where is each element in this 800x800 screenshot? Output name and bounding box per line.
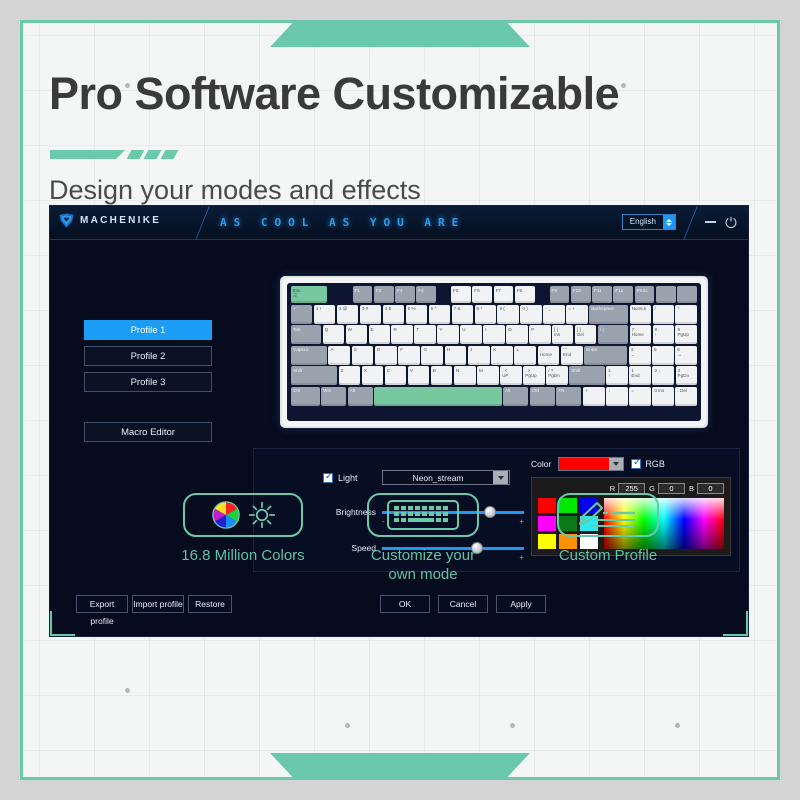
keyboard-key[interactable]: \ |: [598, 325, 628, 344]
grid-dot: [345, 723, 350, 728]
profile-button-2[interactable]: Profile 2: [84, 346, 212, 366]
brightness-plus: +: [519, 517, 524, 526]
keyboard-key[interactable]: Alt: [348, 387, 373, 406]
keyboard-key[interactable]: - _: [543, 305, 564, 324]
keyboard-icon: [386, 498, 460, 532]
poster-frame: Pro Software Customizable Design your mo…: [20, 20, 780, 780]
language-value: English: [623, 215, 663, 229]
keyboard-row: ShiftZXCVBNM, < UP. > PgUp/ ? PgDnShift1…: [291, 366, 697, 385]
keyboard-key[interactable]: 3 PgDn: [676, 366, 698, 385]
keyboard-key[interactable]: F5: [451, 286, 471, 303]
keyboard-key[interactable]: H: [445, 346, 467, 365]
keyboard-key[interactable]: F4: [416, 286, 436, 303]
feature-caption: Customize your own mode: [343, 547, 503, 585]
keyboard-key[interactable]: V: [408, 366, 430, 385]
keyboard-key[interactable]: 6 →: [675, 346, 697, 365]
checkbox-checked-icon[interactable]: [323, 473, 333, 483]
keyboard-key[interactable]: Shift: [569, 366, 605, 385]
minimize-icon[interactable]: [705, 221, 716, 223]
keyboard-row: CapsLkASDFGHJKL; : Home' " EndEnter4 ←56…: [291, 346, 697, 365]
checkbox-checked-icon[interactable]: [631, 459, 641, 469]
brand-logo: MACHENIKE: [58, 212, 161, 229]
brightness-sun-icon: [248, 501, 276, 529]
spinner-updown-icon[interactable]: [663, 215, 675, 229]
keyboard-key[interactable]: M: [477, 366, 499, 385]
light-label: Light: [338, 473, 358, 483]
titlebar-diagonal: [683, 206, 698, 240]
keyboard-key[interactable]: P: [529, 325, 550, 344]
keyboard-key[interactable]: ] } Del: [575, 325, 596, 344]
keyboard-key[interactable]: B: [431, 366, 453, 385]
pen-profile-icon: [575, 499, 641, 531]
window-titlebar: MACHENIKE AS COOL AS YOU ARE English: [50, 206, 748, 240]
accent-slash: [144, 150, 162, 159]
chevron-down-icon[interactable]: [609, 458, 623, 470]
export-profile-button[interactable]: Export profile: [76, 595, 128, 613]
keyboard-row: CtrlWinAltAltCtrlFN+↓=0 Ins. Del: [291, 387, 697, 406]
keyboard-key[interactable]: F7: [494, 286, 514, 303]
keyboard-key[interactable]: Z: [339, 366, 361, 385]
chevron-down-icon[interactable]: [493, 471, 508, 484]
profile-button-1[interactable]: Profile 1: [84, 320, 212, 340]
ok-button[interactable]: OK: [380, 595, 430, 613]
bottom-trapezoid-accent: [270, 753, 530, 778]
keyboard-key[interactable]: 9 PgUp: [675, 325, 696, 344]
keyboard-key[interactable]: W: [346, 325, 367, 344]
keyboard-key[interactable]: S: [352, 346, 374, 365]
keyboard-key[interactable]: F11: [592, 286, 612, 303]
grid-dot: [621, 83, 626, 88]
keyboard-key[interactable]: N: [454, 366, 476, 385]
keyboard-key[interactable]: Q: [323, 325, 344, 344]
keyboard-key[interactable]: Ctrl: [291, 387, 320, 406]
feature-colors: 16.8 Million Colors: [163, 493, 323, 566]
restore-button[interactable]: Restore: [188, 595, 232, 613]
keyboard-key[interactable]: PrtSc: [635, 286, 655, 303]
keyboard-key[interactable]: ; : Home: [538, 346, 560, 365]
keyboard-key[interactable]: Tab: [291, 325, 321, 344]
color-select[interactable]: [558, 457, 624, 471]
accent-divider: [50, 150, 176, 159]
keyboard-row: ~ `1 !2 @3 #4 $5 %6 ^7 &8 *9 (0 )- _= +B…: [291, 305, 697, 324]
keyboard-key[interactable]: [374, 387, 501, 406]
keyboard-key[interactable]: D: [375, 346, 397, 365]
keyboard-key[interactable]: L: [514, 346, 536, 365]
keyboard-key[interactable]: F8: [515, 286, 535, 303]
keyboard-key[interactable]: = +: [566, 305, 587, 324]
keyboard-key[interactable]: ' " End: [561, 346, 583, 365]
power-icon[interactable]: [724, 215, 738, 229]
page-subtitle: Design your modes and effects: [49, 175, 421, 206]
keyboard-row: Esc ☰F1F2F3F4F5F6F7F8F9F10F11F12PrtSc: [291, 286, 697, 303]
light-checkbox[interactable]: Light: [323, 473, 358, 483]
keyboard-key[interactable]: Win: [321, 387, 346, 406]
keyboard-gap: [328, 286, 351, 303]
keyboard-gap: [438, 286, 450, 303]
keyboard-key[interactable]: Shift: [291, 366, 337, 385]
accent-slash: [161, 150, 179, 159]
color-controls-row: Color RGB: [531, 457, 731, 471]
accent-bar-solid: [50, 150, 125, 159]
keyboard-key[interactable]: Y: [437, 325, 458, 344]
feature-caption: Custom Profile: [528, 547, 688, 566]
machenike-shield-icon: [58, 212, 75, 229]
feature-icon-box: [557, 493, 659, 537]
keyboard-key[interactable]: / ? PgDn: [546, 366, 568, 385]
keyboard-key[interactable]: 7 Home: [630, 325, 651, 344]
keyboard-key[interactable]: 4 ←: [629, 346, 651, 365]
keyboard-gap: [536, 286, 548, 303]
keyboard-key[interactable]: F1: [353, 286, 373, 303]
profile-sidebar: Profile 1Profile 2Profile 3 Macro Editor: [50, 240, 250, 636]
import-profile-button[interactable]: Import profile: [132, 595, 184, 613]
rgb-channel-value[interactable]: 0: [697, 483, 724, 494]
accent-slash: [127, 150, 145, 159]
cancel-button[interactable]: Cancel: [438, 595, 488, 613]
keyboard-key[interactable]: O: [506, 325, 527, 344]
feature-custom-mode: Customize your own mode: [343, 493, 503, 585]
feature-custom-profile: Custom Profile: [528, 493, 688, 566]
keyboard-key[interactable]: 9 (: [497, 305, 518, 324]
language-select[interactable]: English: [622, 214, 676, 230]
top-trapezoid-accent: [270, 22, 530, 47]
keyboard-key[interactable]: R: [391, 325, 412, 344]
keyboard-key[interactable]: /: [653, 305, 674, 324]
keyboard-key[interactable]: 1 End: [629, 366, 651, 385]
keyboard-key[interactable]: 2 ↓: [652, 366, 674, 385]
window-controls: [705, 215, 738, 229]
keyboard-key[interactable]: F6: [472, 286, 492, 303]
keyboard-key[interactable]: ~ `: [291, 305, 312, 324]
keyboard-key[interactable]: U: [460, 325, 481, 344]
rgb-channel-label: B: [689, 484, 694, 493]
keyboard-key[interactable]: Enter: [584, 346, 627, 365]
keyboard-key[interactable]: , < UP: [500, 366, 522, 385]
corner-accent-br: [723, 611, 749, 637]
keyboard-key[interactable]: E: [369, 325, 390, 344]
keyboard-key[interactable]: [677, 286, 697, 303]
keyboard-key[interactable]: Ctrl: [530, 387, 555, 406]
keyboard-key[interactable]: *: [675, 305, 696, 324]
profile-list: Profile 1Profile 2Profile 3: [84, 320, 212, 398]
keyboard-preview[interactable]: Esc ☰F1F2F3F4F5F6F7F8F9F10F11F12PrtSc~ `…: [280, 276, 708, 428]
keyboard-key[interactable]: FN: [556, 387, 581, 406]
keyboard-key[interactable]: 0 ): [520, 305, 541, 324]
keyboard-key[interactable]: F9: [550, 286, 570, 303]
keyboard-key[interactable]: 8 ↑: [653, 325, 674, 344]
keyboard-key[interactable]: . Del: [675, 387, 697, 406]
keyboard-key[interactable]: NumLk: [630, 305, 651, 324]
grid-dot: [125, 688, 130, 693]
selected-color-swatch: [559, 458, 609, 470]
profile-button-3[interactable]: Profile 3: [84, 372, 212, 392]
keyboard-key[interactable]: F10: [571, 286, 591, 303]
keyboard-key[interactable]: 1 !: [314, 305, 335, 324]
rgb-checkbox[interactable]: RGB: [631, 459, 665, 469]
keyboard-key[interactable]: J: [468, 346, 490, 365]
brand-name: MACHENIKE: [80, 215, 161, 226]
keyboard-key[interactable]: 2 @: [337, 305, 358, 324]
keyboard-key[interactable]: C: [385, 366, 407, 385]
window-tagline: AS COOL AS YOU ARE: [220, 216, 465, 229]
keyboard-key[interactable]: T: [414, 325, 435, 344]
keyboard-key[interactable]: Esc ☰: [291, 286, 327, 303]
keyboard-key[interactable]: +: [583, 387, 605, 406]
keyboard-key[interactable]: F: [398, 346, 420, 365]
titlebar-diagonal: [195, 206, 210, 240]
keyboard-key[interactable]: X: [362, 366, 384, 385]
keyboard-shell: Esc ☰F1F2F3F4F5F6F7F8F9F10F11F12PrtSc~ `…: [280, 276, 708, 428]
keyboard-key[interactable]: F12: [613, 286, 633, 303]
grid-dot: [510, 723, 515, 728]
feature-icon-box: [183, 493, 303, 537]
keyboard-key[interactable]: =: [629, 387, 651, 406]
rgb-channel-label: G: [649, 484, 655, 493]
rgb-label: RGB: [645, 459, 665, 469]
feature-icon-box: [367, 493, 479, 537]
keyboard-key[interactable]: Alt: [503, 387, 528, 406]
keyboard-key[interactable]: [656, 286, 676, 303]
apply-button[interactable]: Apply: [496, 595, 546, 613]
keyboard-keys-area: Esc ☰F1F2F3F4F5F6F7F8F9F10F11F12PrtSc~ `…: [287, 283, 701, 421]
keyboard-key[interactable]: F3: [395, 286, 415, 303]
lighting-mode-select[interactable]: Neon_stream: [382, 470, 510, 485]
keyboard-row: TabQWERTYUIOP[ { Ins] } Del\ |7 Home8 ↑9…: [291, 325, 697, 344]
keyboard-key[interactable]: F2: [374, 286, 394, 303]
keyboard-key[interactable]: 8 *: [475, 305, 496, 324]
color-wheel-icon: [211, 500, 241, 530]
keyboard-key[interactable]: 6 ^: [429, 305, 450, 324]
rgb-field-b[interactable]: B0: [689, 483, 724, 494]
keyboard-key[interactable]: Backspace: [589, 305, 628, 324]
keyboard-key[interactable]: 5 %: [406, 305, 427, 324]
speed-plus: +: [519, 553, 524, 562]
keyboard-key[interactable]: [ { Ins: [552, 325, 573, 344]
keyboard-key[interactable]: 4 $: [383, 305, 404, 324]
color-label: Color: [531, 459, 551, 469]
rgb-channel-label: R: [610, 484, 615, 493]
keyboard-key[interactable]: CapsLk: [291, 346, 327, 365]
keyboard-key[interactable]: ↓: [606, 387, 628, 406]
keyboard-key[interactable]: 0 Ins: [652, 387, 674, 406]
keyboard-key[interactable]: 5: [652, 346, 674, 365]
keyboard-key[interactable]: A: [328, 346, 350, 365]
grid-dot: [675, 723, 680, 728]
page-title: Pro Software Customizable: [49, 68, 619, 120]
keyboard-key[interactable]: 7 &: [452, 305, 473, 324]
lighting-mode-value: Neon_stream: [383, 473, 493, 483]
keyboard-key[interactable]: G: [421, 346, 443, 365]
keyboard-key[interactable]: K: [491, 346, 513, 365]
keyboard-key[interactable]: 1 ↑: [606, 366, 628, 385]
keyboard-key[interactable]: 3 #: [360, 305, 381, 324]
macro-editor-button[interactable]: Macro Editor: [84, 422, 212, 442]
keyboard-key[interactable]: I: [483, 325, 504, 344]
feature-caption: 16.8 Million Colors: [163, 547, 323, 566]
keyboard-key[interactable]: . > PgUp: [523, 366, 545, 385]
